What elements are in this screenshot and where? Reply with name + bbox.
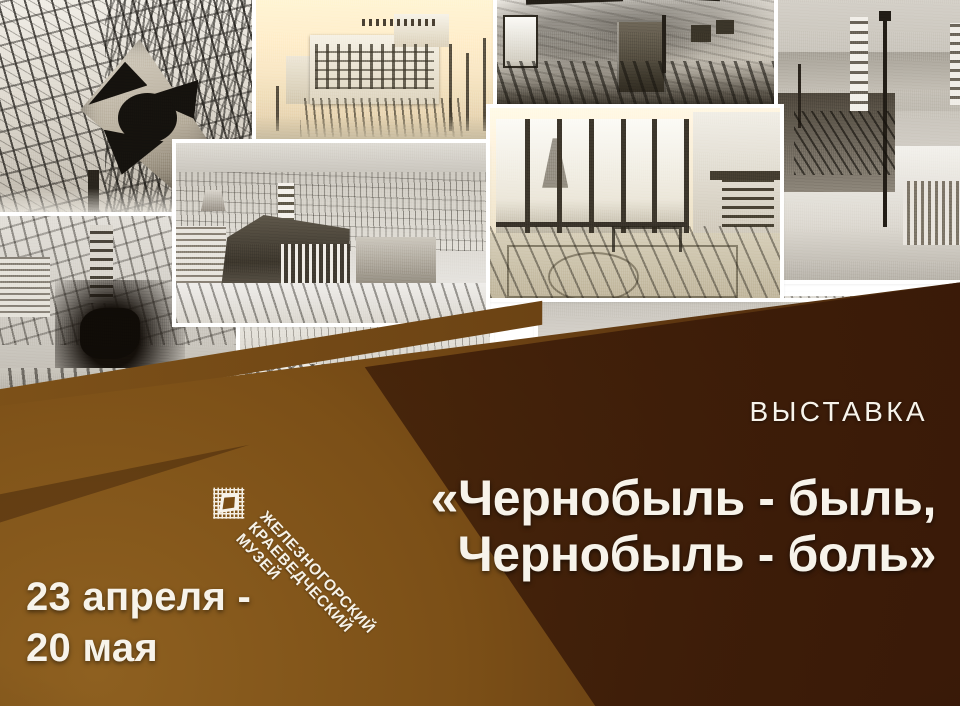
exhibition-title-line-1: «Чернобыль - быль, [431, 470, 936, 526]
exhibition-dates: 23 апреля - 20 мая [26, 572, 251, 674]
sarcophagus-aerial-photo [176, 143, 486, 323]
pripyat-hotel-polissya-photo [256, 0, 503, 140]
reactor-four-crane-photo [778, 0, 960, 280]
exhibition-poster: ВЫСТАВКА «Чернобыль - быль, Чернобыль - … [0, 0, 960, 706]
abandoned-gymnasium-photo [490, 108, 780, 298]
exhibition-date-line-1: 23 апреля - [26, 575, 251, 619]
exhibition-title: «Чернобыль - быль, Чернобыль - боль» [0, 470, 936, 582]
river-panorama-tower-photo [538, 302, 868, 452]
exhibition-date-line-2: 20 мая [26, 623, 251, 674]
abandoned-room-interior-photo [497, 0, 782, 110]
exhibition-kicker: ВЫСТАВКА [0, 396, 928, 428]
